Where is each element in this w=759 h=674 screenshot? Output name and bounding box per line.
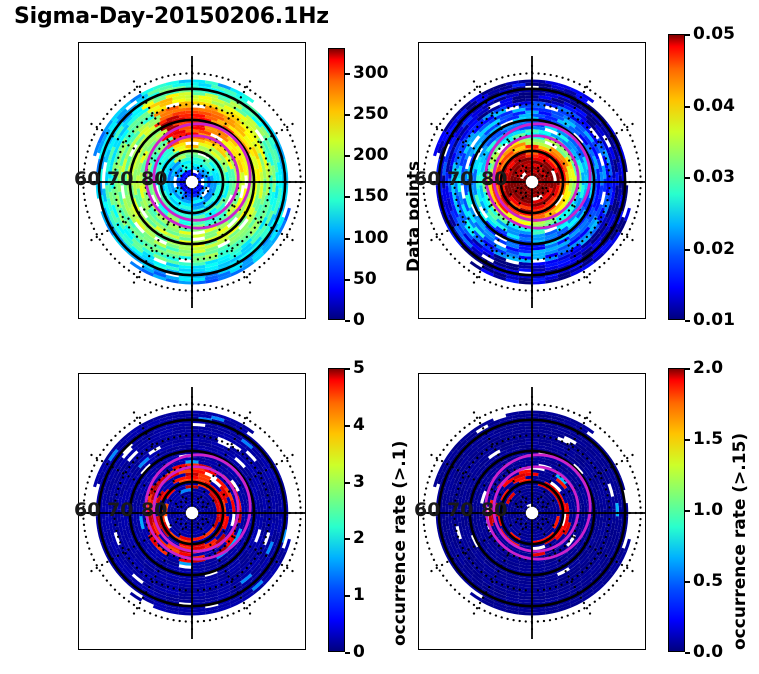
heatmap-cell	[445, 503, 449, 516]
polar-plot-occurrence-rate-015	[418, 373, 646, 650]
heatmap-cell	[445, 172, 449, 185]
colorbar-title: occurrence rate (>.1)	[390, 441, 410, 646]
polar-svg	[418, 42, 646, 319]
colorbar-gradient	[668, 368, 685, 652]
heatmap-cell	[105, 172, 109, 185]
colorbar-ticklabel: 150	[353, 186, 389, 206]
colorbar-ticklabel: 0.0	[693, 642, 723, 662]
colorbar-gradient	[328, 48, 345, 320]
colorbar-ticklabel: 0.04	[693, 96, 735, 116]
panel-mean-sigma-phi: 60 70 80	[418, 42, 646, 319]
colorbar-ticklabel: 200	[353, 145, 389, 165]
colorbar-tick	[345, 196, 350, 198]
colorbar-mean-sigma-phi[interactable]: 0.01 0.02 0.03 0.04 0.05 mean σφ	[668, 34, 685, 320]
heatmap-cell	[284, 539, 291, 552]
heatmap-cell	[624, 539, 631, 552]
heatmap-cell	[624, 208, 631, 221]
colorbar-tick	[345, 320, 350, 322]
colorbar-ticklabel: 1	[353, 585, 365, 605]
colorbar-occurrence-rate-015[interactable]: 0.0 0.5 1.0 1.5 2.0 occurrence rate (>.1…	[668, 368, 685, 652]
colorbar-tick	[685, 510, 690, 512]
colorbar-tick	[345, 368, 350, 370]
polar-svg	[418, 373, 646, 650]
polar-center-hole	[526, 176, 538, 188]
panel-data-points: 60 70 80	[78, 42, 306, 319]
colorbar-tick	[685, 34, 690, 36]
colorbar-data-points[interactable]: 0 50 100 150 200 250 300 Data points	[328, 48, 345, 320]
colorbar-title: mean σφ	[754, 141, 759, 222]
heatmap-cell	[615, 172, 619, 185]
colorbar-ticklabel: 2.0	[693, 358, 723, 378]
colorbar-tick	[345, 652, 350, 654]
colorbar-tick	[685, 368, 690, 370]
heatmap-cell	[105, 503, 109, 516]
colorbar-ticklabel: 0	[353, 310, 365, 330]
colorbar-title: occurrence rate (>.15)	[730, 433, 750, 650]
polar-plot-data-points	[78, 42, 306, 319]
colorbar-tick	[685, 652, 690, 654]
colorbar-tick	[685, 177, 690, 179]
heatmap-cell	[192, 233, 205, 238]
colorbar-tick	[345, 238, 350, 240]
colorbar-tick	[345, 482, 350, 484]
colorbar-ticklabel: 1.0	[693, 500, 723, 520]
polar-center-hole	[186, 507, 198, 519]
heatmap-cell	[615, 503, 619, 516]
colorbar-tick	[345, 595, 350, 597]
panel-occurrence-rate-01: 60 70 80	[78, 373, 306, 650]
colorbar-ticklabel: 3	[353, 472, 365, 492]
figure-canvas: Sigma-Day-20150206.1Hz 60 70 80 0 50 100…	[0, 0, 759, 674]
colorbar-title-text: mean σ	[754, 150, 759, 222]
colorbar-gradient	[328, 368, 345, 652]
heatmap-cell	[275, 503, 279, 516]
polar-svg	[78, 373, 306, 650]
colorbar-ticklabel: 2	[353, 528, 365, 548]
colorbar-tick	[345, 538, 350, 540]
colorbar-ticklabel: 0.03	[693, 167, 735, 187]
colorbar-gradient	[668, 34, 685, 320]
colorbar-ticklabel: 0.02	[693, 239, 735, 259]
colorbar-tick	[345, 114, 350, 116]
colorbar-ticklabel: 5	[353, 358, 365, 378]
colorbar-tick	[345, 155, 350, 157]
colorbar-tick	[685, 320, 690, 322]
colorbar-ticklabel: 0.05	[693, 24, 735, 44]
polar-center-hole	[526, 507, 538, 519]
colorbar-ticklabel: 50	[353, 269, 377, 289]
colorbar-ticklabel: 300	[353, 63, 389, 83]
polar-svg	[78, 42, 306, 319]
colorbar-tick	[345, 425, 350, 427]
colorbar-ticklabel: 100	[353, 228, 389, 248]
colorbar-ticklabel: 4	[353, 415, 365, 435]
colorbar-tick	[685, 581, 690, 583]
colorbar-ticklabel: 0	[353, 642, 365, 662]
colorbar-tick	[345, 73, 350, 75]
polar-plot-mean-sigma-phi	[418, 42, 646, 319]
heatmap-cell	[275, 172, 279, 185]
colorbar-occurrence-rate-01[interactable]: 0 1 2 3 4 5 occurrence rate (>.1)	[328, 368, 345, 652]
colorbar-tick	[345, 279, 350, 281]
colorbar-tick	[685, 439, 690, 441]
colorbar-ticklabel: 1.5	[693, 429, 723, 449]
colorbar-ticklabel: 250	[353, 104, 389, 124]
colorbar-ticklabel: 0.5	[693, 571, 723, 591]
polar-center-hole	[186, 176, 198, 188]
colorbar-ticklabel: 0.01	[693, 310, 735, 330]
heatmap-cell	[284, 208, 291, 221]
colorbar-tick	[685, 249, 690, 251]
polar-plot-occurrence-rate-01	[78, 373, 306, 650]
panel-occurrence-rate-015: 60 70 80	[418, 373, 646, 650]
figure-title: Sigma-Day-20150206.1Hz	[14, 4, 329, 29]
colorbar-tick	[685, 106, 690, 108]
